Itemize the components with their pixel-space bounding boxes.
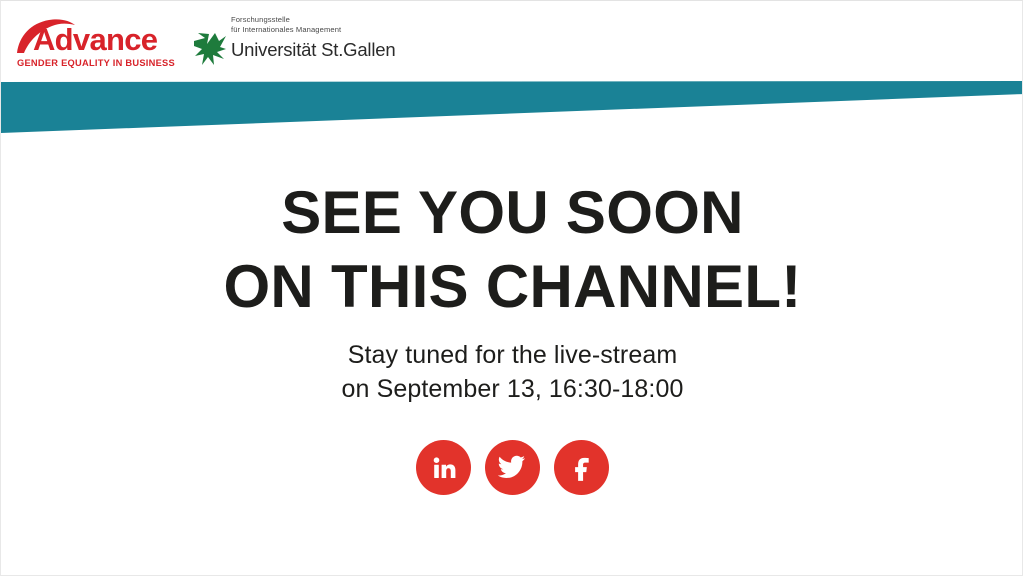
subtitle-line-2: on September 13, 16:30-18:00 (1, 372, 1023, 406)
hsg-institute-line-2: für Internationales Management (231, 25, 341, 34)
headline-line-1: SEE YOU SOON (1, 176, 1023, 250)
subtitle-line-1: Stay tuned for the live-stream (1, 338, 1023, 372)
hsg-logo: Forschungsstelle für Internationales Man… (193, 15, 373, 67)
advance-logo: Advance GENDER EQUALITY IN BUSINESS (15, 18, 161, 66)
social-links-row (1, 440, 1023, 495)
hsg-star-mark-icon (193, 32, 227, 66)
twitter-icon (498, 453, 527, 482)
social-link-twitter[interactable] (485, 440, 540, 495)
linkedin-icon (431, 455, 457, 481)
facebook-icon (569, 455, 595, 481)
advance-wordmark: Advance (33, 24, 157, 55)
page-title: SEE YOU SOON ON THIS CHANNEL! (1, 176, 1023, 324)
headline-line-2: ON THIS CHANNEL! (1, 250, 1023, 324)
slide-canvas: Advance GENDER EQUALITY IN BUSINESS Fors… (0, 0, 1023, 576)
hsg-institute-line-1: Forschungsstelle (231, 15, 290, 24)
hsg-university-name: Universität St.Gallen (231, 39, 395, 61)
subtitle: Stay tuned for the live-stream on Septem… (1, 338, 1023, 406)
main-content: SEE YOU SOON ON THIS CHANNEL! Stay tuned… (1, 138, 1023, 576)
social-link-linkedin[interactable] (416, 440, 471, 495)
header-bar: Advance GENDER EQUALITY IN BUSINESS Fors… (1, 1, 1023, 82)
social-link-facebook[interactable] (554, 440, 609, 495)
teal-diagonal-wedge (1, 80, 1023, 138)
advance-tagline: GENDER EQUALITY IN BUSINESS (17, 58, 175, 68)
